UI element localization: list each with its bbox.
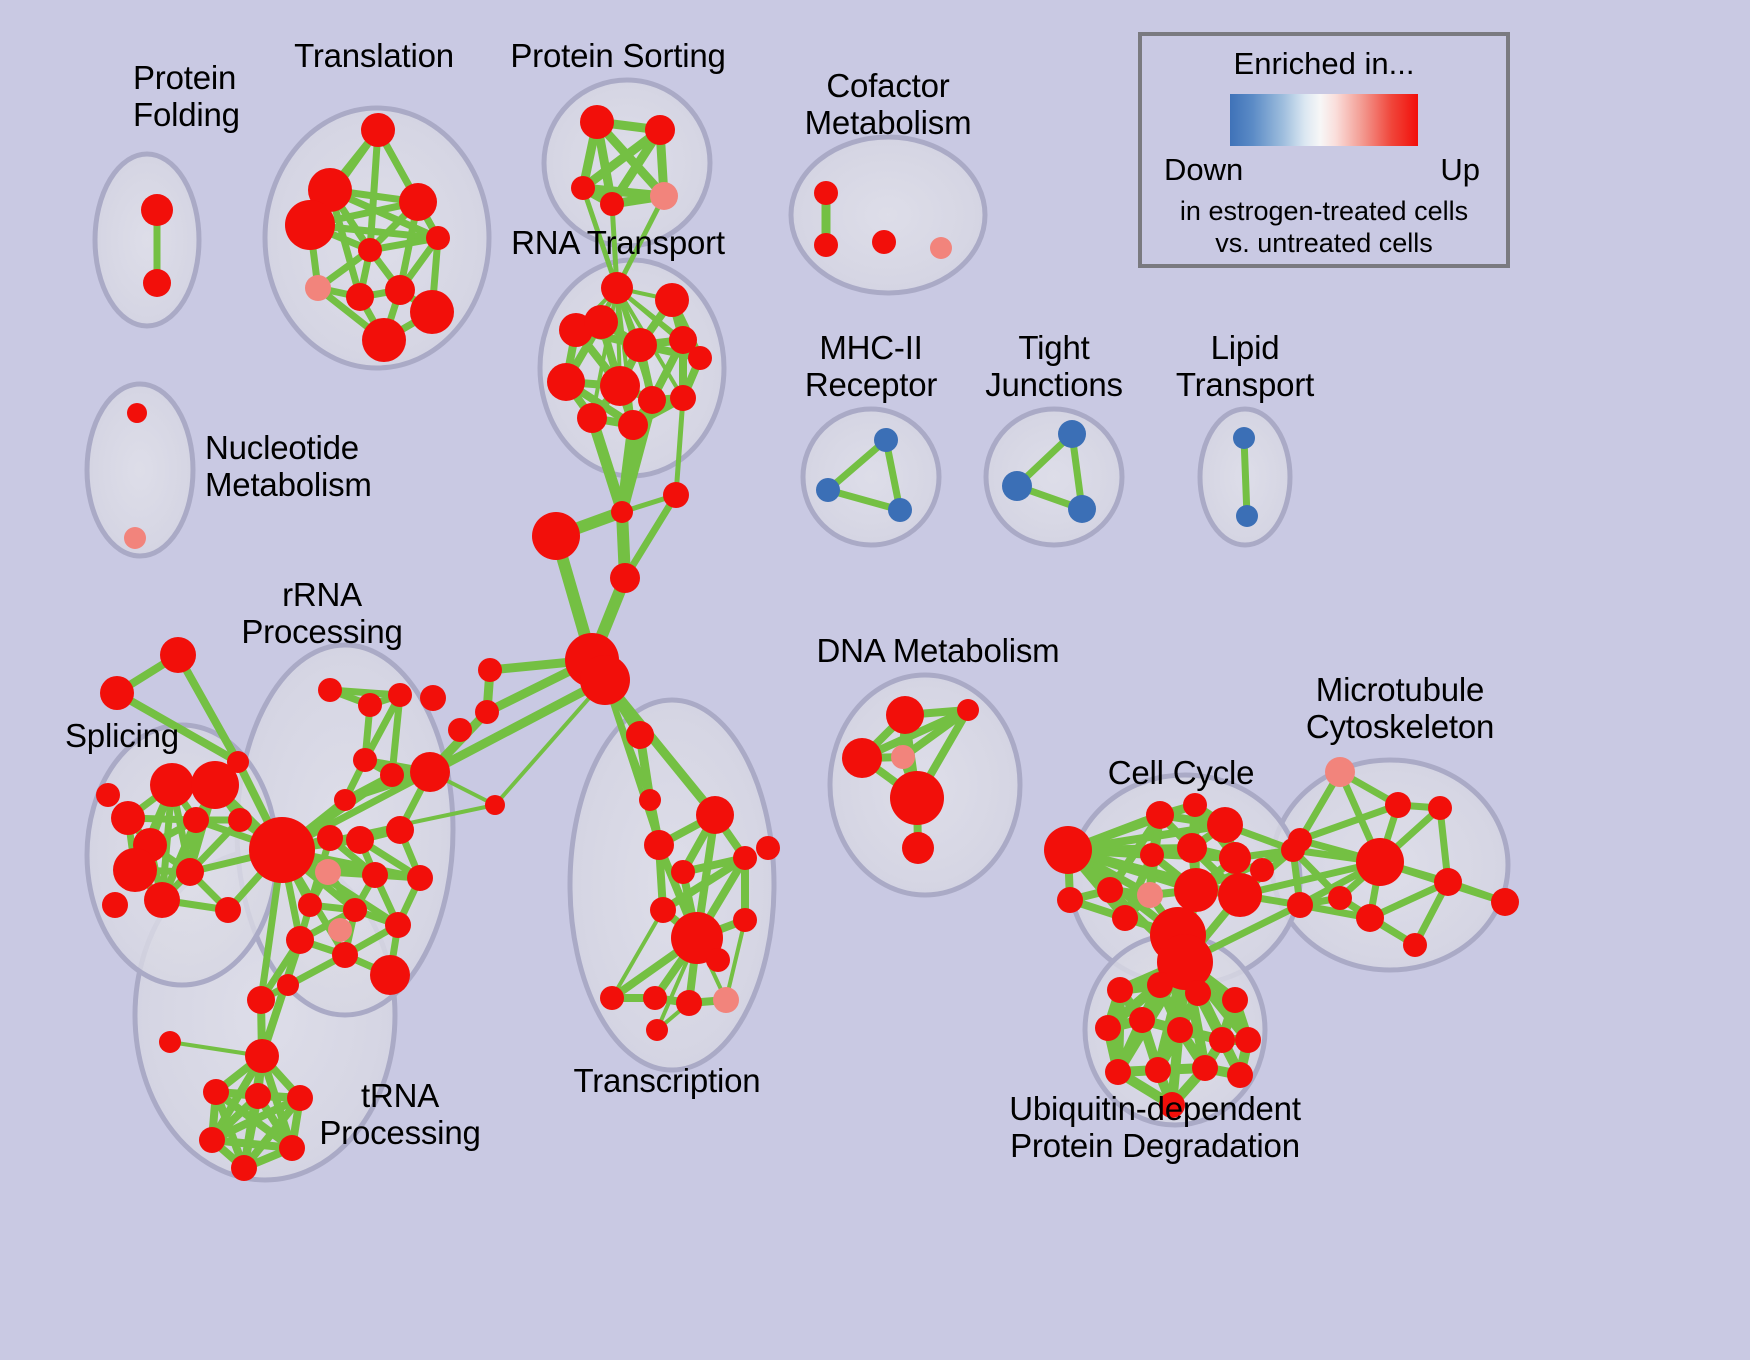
node [410,752,450,792]
node [113,848,157,892]
node [426,226,450,250]
node [380,763,404,787]
node [346,283,374,311]
node [199,1127,225,1153]
node [1107,977,1133,1003]
node [713,987,739,1013]
node [1147,972,1173,998]
node [618,410,648,440]
node [386,816,414,844]
node [286,926,314,954]
node [399,183,437,221]
node [930,237,952,259]
node [231,1155,257,1181]
node [1403,933,1427,957]
cluster-label-rrna-processing: rRNA Processing [241,577,402,651]
node [1434,868,1462,896]
node [532,512,580,560]
node [655,283,689,317]
node [1428,796,1452,820]
node [1356,904,1384,932]
node [1140,843,1164,867]
node [287,1085,313,1111]
node [228,808,252,832]
node [650,182,678,210]
node [159,1031,181,1053]
node [874,428,898,452]
node [1174,868,1218,912]
node [888,498,912,522]
node [1287,892,1313,918]
node [353,748,377,772]
node [670,385,696,411]
node [362,318,406,362]
node [176,858,204,886]
node [1097,877,1123,903]
cluster-label-mhc-ii-receptor: MHC-II Receptor [805,330,937,404]
node [623,328,657,362]
cluster-label-splicing: Splicing [65,718,179,755]
node [814,181,838,205]
node [1233,427,1255,449]
node [1227,1062,1253,1088]
node [644,830,674,860]
node [150,763,194,807]
hull-mhc-ii [803,409,939,545]
node [1105,1059,1131,1085]
legend-up-label: Up [1440,152,1480,188]
node [343,898,367,922]
node [733,846,757,870]
node [1192,1055,1218,1081]
node [957,699,979,721]
node [475,700,499,724]
node [1167,1017,1193,1043]
node [886,696,924,734]
cluster-label-microtubule-cytoskeleton: Microtubule Cytoskeleton [1306,672,1494,746]
node [688,346,712,370]
node [334,789,356,811]
node [143,269,171,297]
node [1491,888,1519,916]
node [247,986,275,1014]
node [1177,833,1207,863]
node [663,482,689,508]
node [285,200,335,250]
node [1183,793,1207,817]
cluster-label-ubiquitin-protein-degradation: Ubiquitin-dependent Protein Degradation [1009,1091,1301,1165]
enrichment-network-figure: Protein Folding Translation Protein Sort… [0,0,1750,1360]
node [111,801,145,835]
node [1068,495,1096,523]
node [448,718,472,742]
node [890,771,944,825]
cluster-label-trna-processing: tRNA Processing [319,1078,480,1152]
node [1044,826,1092,874]
node [1356,838,1404,886]
node [183,807,209,833]
node [1250,858,1274,882]
node [277,974,299,996]
cluster-label-cell-cycle: Cell Cycle [1108,755,1255,792]
node [639,789,661,811]
node [1129,1007,1155,1033]
node [1185,980,1211,1006]
cluster-label-nucleotide-metabolism: Nucleotide Metabolism [205,430,372,504]
node [279,1135,305,1161]
hull-protein-sorting [544,80,710,246]
node [733,908,757,932]
node [385,275,415,305]
node [160,637,196,673]
node [1385,792,1411,818]
node [638,386,666,414]
node [144,882,180,918]
node [1328,886,1352,910]
node [891,745,915,769]
node [1222,987,1248,1013]
node [245,1039,279,1073]
cluster-label-rna-transport: RNA Transport [511,225,725,262]
node [100,676,134,710]
node [388,683,412,707]
cluster-label-transcription: Transcription [574,1063,761,1100]
cluster-label-translation: Translation [294,38,454,75]
node [646,1019,668,1041]
node [706,948,730,972]
node [485,795,505,815]
node [1236,505,1258,527]
cluster-label-cofactor-metabolism: Cofactor Metabolism [805,68,972,142]
node [1207,807,1243,843]
node [1325,757,1355,787]
node [1146,801,1174,829]
legend-panel: Enriched in... Down Up in estrogen-treat… [1138,32,1510,268]
node [315,859,341,885]
node [385,912,411,938]
node [478,658,502,682]
node [305,275,331,301]
node [610,563,640,593]
node [127,403,147,423]
node [1095,1015,1121,1041]
node [203,1079,229,1105]
node [410,290,454,334]
node [358,238,382,262]
node [124,527,146,549]
cluster-label-tight-junctions: Tight Junctions [985,330,1123,404]
node [361,113,395,147]
node [328,918,352,942]
cluster-label-protein-sorting: Protein Sorting [510,38,725,75]
node [1137,882,1163,908]
node [191,761,239,809]
legend-title: Enriched in... [1142,46,1506,82]
cluster-label-protein-folding: Protein Folding [133,60,240,134]
node [102,892,128,918]
node [370,955,410,995]
legend-sublabel: in estrogen-treated cells vs. untreated … [1142,196,1506,260]
node [96,783,120,807]
node [600,366,640,406]
node [814,233,838,257]
node [420,685,446,711]
node [1002,471,1032,501]
node [650,897,676,923]
hull-protein-folding [95,154,199,326]
node [580,105,614,139]
node [407,865,433,891]
node [298,893,322,917]
node [249,817,315,883]
node [547,363,585,401]
node [611,501,633,523]
node [1219,842,1251,874]
node [318,678,342,702]
node [676,990,702,1016]
node [643,986,667,1010]
legend-color-gradient-bar [1230,94,1418,146]
node [600,192,624,216]
node [141,194,173,226]
node [601,272,633,304]
node [696,796,734,834]
node [245,1083,271,1109]
node [626,721,654,749]
node [1209,1027,1235,1053]
node [584,305,618,339]
node [816,478,840,502]
node [571,176,595,200]
node [842,738,882,778]
node [671,860,695,884]
cluster-label-lipid-transport: Lipid Transport [1176,330,1314,404]
node [362,862,388,888]
node [600,986,624,1010]
node [1145,1057,1171,1083]
node [902,832,934,864]
hull-cofactor [791,137,985,293]
node [1057,887,1083,913]
node [332,942,358,968]
node [346,826,374,854]
node [1281,838,1305,862]
node [756,836,780,860]
legend-down-label: Down [1164,152,1243,188]
node [872,230,896,254]
node [358,693,382,717]
node [1058,420,1086,448]
node [215,897,241,923]
node [1112,905,1138,931]
node [1235,1027,1261,1053]
node [317,825,343,851]
node [577,403,607,433]
node [645,115,675,145]
cluster-label-dna-metabolism: DNA Metabolism [817,633,1060,670]
node [580,655,630,705]
